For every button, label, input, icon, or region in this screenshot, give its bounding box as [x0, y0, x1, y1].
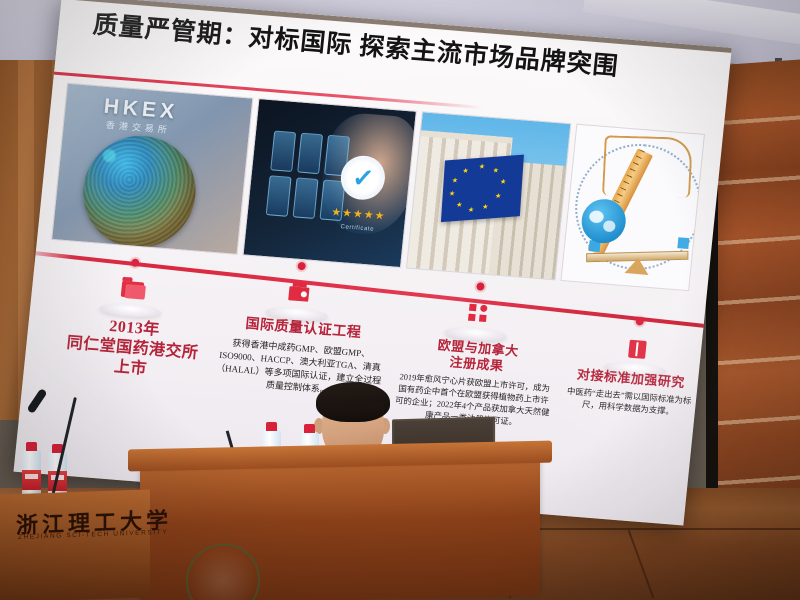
panel-standards-art [560, 124, 705, 292]
pedestal-1 [82, 255, 184, 320]
hair [316, 382, 390, 422]
right-wood-wall [718, 59, 800, 495]
panel-certification: ✓ ★★★★★ Certificate [243, 98, 418, 268]
column-1: 2013年 同仁堂国药港交所上市 [60, 313, 206, 384]
balance-pan-right [677, 237, 689, 249]
photo-scene: 质量严管期：对标国际 探索主流市场品牌突围 同仁堂 TONG REN TANG … [0, 0, 800, 600]
balance-fulcrum [624, 257, 650, 275]
pedestal-3 [427, 279, 529, 344]
factory-icon [285, 279, 313, 305]
side-lectern: 浙江理工大学 ZHEJIANG SCI-TECH UNIVERSITY [0, 489, 150, 600]
folder-icon [118, 276, 146, 302]
timeline-dot-4 [635, 317, 644, 326]
hkex-sphere-sculpture [78, 132, 201, 252]
grid-icon [464, 299, 492, 325]
check-mark: ✓ [351, 164, 375, 192]
certificate-label: Certificate [340, 224, 374, 233]
timeline-dot-2 [297, 262, 306, 271]
university-seal [186, 543, 260, 600]
column-4-body: 中医药“走出去”需以国际标准为标尺，用科学数据为支撑。 [560, 386, 696, 421]
eu-flag-icon: ★★ ★★ ★★ ★★ ★★ [441, 155, 524, 223]
timeline-dot-3 [476, 282, 485, 291]
timeline-dot-1 [131, 258, 140, 267]
panel-hkex: HKEX 香港交易所 [51, 83, 253, 255]
panel-eu-flag: ★★ ★★ ★★ ★★ ★★ [406, 111, 571, 280]
column-4: 对接标准加强研究 中医药“走出去”需以国际标准为标尺，用科学数据为支撑。 [560, 366, 698, 421]
pedestal-2 [248, 258, 350, 323]
book-icon [623, 334, 651, 360]
main-lectern [140, 451, 540, 600]
